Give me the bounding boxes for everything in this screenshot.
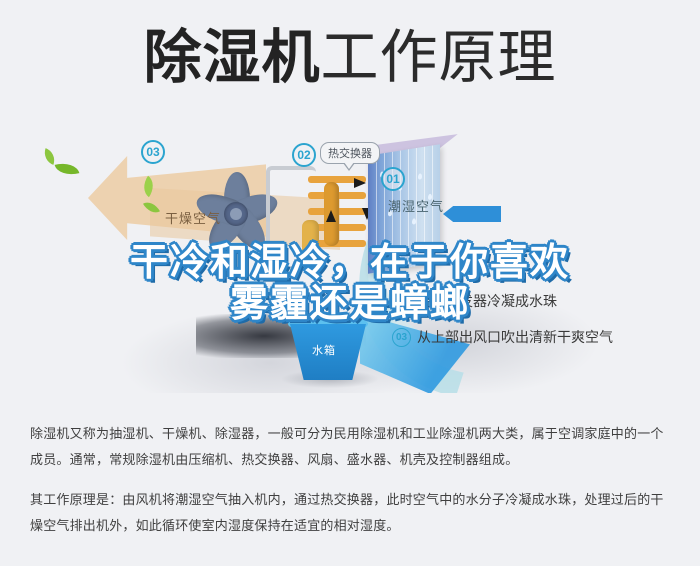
step-item-03: 03 从上部出风口吹出清新干爽空气	[392, 327, 692, 347]
page-title-bold: 除湿机	[143, 23, 320, 91]
illustration-badge-01: 01	[381, 167, 405, 191]
body-copy: 除湿机又称为抽湿机、干燥机、除湿器，一般可分为民用除湿机和工业除湿机两大类，属于…	[30, 421, 675, 553]
illustration-badge-03: 03	[141, 140, 165, 164]
compressor-coil-assembly	[262, 162, 380, 280]
body-paragraph-2: 其工作原理是：由风机将潮湿空气抽入机内，通过热交换器，此时空气中的水分子冷凝成水…	[30, 487, 675, 539]
step-text-02: 经过蒸发器冷凝成水珠	[417, 291, 557, 311]
illustration-badge-02: 02	[292, 143, 316, 167]
humid-air-inflow-arrow	[443, 206, 501, 222]
compressor-cylinder	[302, 220, 319, 262]
page-title: 除湿机工作原理	[0, 28, 700, 87]
humid-air-label: 潮湿空气	[388, 196, 444, 215]
page-title-light: 工作原理	[321, 25, 557, 90]
step-badge-01: 01	[392, 256, 411, 275]
step-text-01: 由风机将潮湿空气抽入机内	[417, 255, 585, 275]
step-list: 01 由风机将潮湿空气抽入机内 02 经过蒸发器冷凝成水珠 03 从上部出风口吹…	[392, 255, 692, 363]
fan-hub-inner	[230, 208, 242, 220]
dry-air-label: 干燥空气	[165, 208, 221, 227]
water-droplet	[382, 243, 386, 250]
water-droplet	[418, 173, 422, 180]
heat-exchanger-callout: 热交换器	[320, 142, 380, 164]
water-tank-label: 水箱	[312, 342, 336, 358]
flow-arrow-right	[354, 178, 366, 188]
step-badge-03: 03	[392, 328, 411, 347]
evaporator-fin	[376, 154, 377, 272]
body-paragraph-1: 除湿机又称为抽湿机、干燥机、除湿器，一般可分为民用除湿机和工业除湿机两大类，属于…	[30, 421, 675, 473]
flow-arrow-up	[326, 210, 336, 222]
infographic-page: 除湿机工作原理	[0, 0, 700, 566]
leaf-icon	[55, 160, 80, 179]
step-item-02: 02 经过蒸发器冷凝成水珠	[392, 291, 692, 311]
step-text-03: 从上部出风口吹出清新干爽空气	[417, 327, 613, 347]
leaf-icon	[41, 148, 58, 165]
